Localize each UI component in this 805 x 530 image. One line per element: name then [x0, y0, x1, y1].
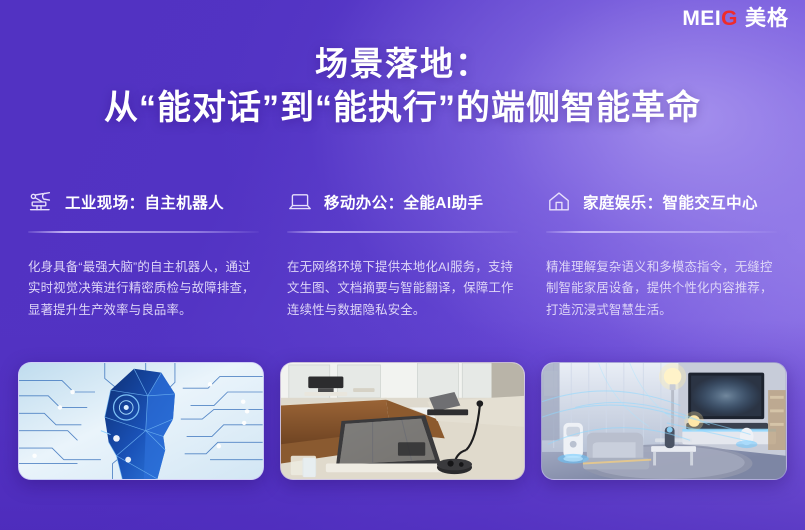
feature-divider: [287, 231, 518, 233]
title-line-1: 场景落地：: [0, 44, 805, 84]
feature-body: 化身具备“最强大脑”的自主机器人，通过实时视觉决策进行精密质检与故障排查，显著提…: [28, 257, 259, 321]
conference-room-tablet-microphone-photo: [280, 362, 526, 480]
feature-heading: 家庭娱乐：智能交互中心: [583, 191, 758, 213]
photo-slot-3: [533, 362, 795, 480]
robot-arm-icon: [28, 190, 54, 214]
laptop-icon: [287, 190, 313, 214]
smart-home-illustration: [542, 363, 786, 479]
feature-heading: 工业现场：自主机器人: [65, 191, 224, 213]
ai-head-circuit-illustration: [19, 363, 263, 479]
feature-columns: 工业现场：自主机器人 化身具备“最强大脑”的自主机器人，通过实时视觉决策进行精密…: [0, 182, 805, 321]
photo-slot-2: [272, 362, 534, 480]
brand-wordmark-prefix: MEI: [682, 8, 721, 29]
brand-logo: MEIG 美格: [682, 8, 789, 29]
brand-wordmark-accent: G: [721, 8, 738, 29]
feature-column-mobile-office: 移动办公：全能AI助手 在无网络环境下提供本地化AI服务，支持文生图、文档摘要与…: [273, 182, 532, 321]
title-line-2: 从“能对话”到“能执行”的端侧智能革命: [0, 86, 805, 130]
feature-body: 精准理解复杂语义和多模态指令，无缝控制智能家居设备，提供个性化内容推荐，打造沉浸…: [546, 257, 777, 321]
conference-room-illustration: [281, 363, 525, 479]
feature-body: 在无网络环境下提供本地化AI服务，支持文生图、文档摘要与智能翻译，保障工作连续性…: [287, 257, 518, 321]
feature-column-home-entertainment: 家庭娱乐：智能交互中心 精准理解复杂语义和多模态指令，无缝控制智能家居设备，提供…: [532, 182, 791, 321]
feature-heading-row: 移动办公：全能AI助手: [287, 182, 518, 222]
brand-wordmark-cn: 美格: [745, 8, 789, 29]
photo-slot-1: [10, 362, 272, 480]
feature-divider: [546, 231, 777, 233]
home-icon: [546, 190, 572, 214]
slide-title: 场景落地： 从“能对话”到“能执行”的端侧智能革命: [0, 44, 805, 130]
feature-heading: 移动办公：全能AI助手: [324, 191, 483, 213]
slide-canvas: MEIG 美格 场景落地： 从“能对话”到“能执行”的端侧智能革命: [0, 0, 805, 530]
brand-wordmark: MEIG: [682, 8, 738, 29]
feature-photo-row: [0, 362, 805, 480]
feature-divider: [28, 231, 259, 233]
feature-heading-row: 工业现场：自主机器人: [28, 182, 259, 222]
feature-heading-row: 家庭娱乐：智能交互中心: [546, 182, 777, 222]
smart-home-living-room-photo: [541, 362, 787, 480]
ai-head-circuit-board-photo: [18, 362, 264, 480]
feature-column-industrial: 工业现场：自主机器人 化身具备“最强大脑”的自主机器人，通过实时视觉决策进行精密…: [14, 182, 273, 321]
